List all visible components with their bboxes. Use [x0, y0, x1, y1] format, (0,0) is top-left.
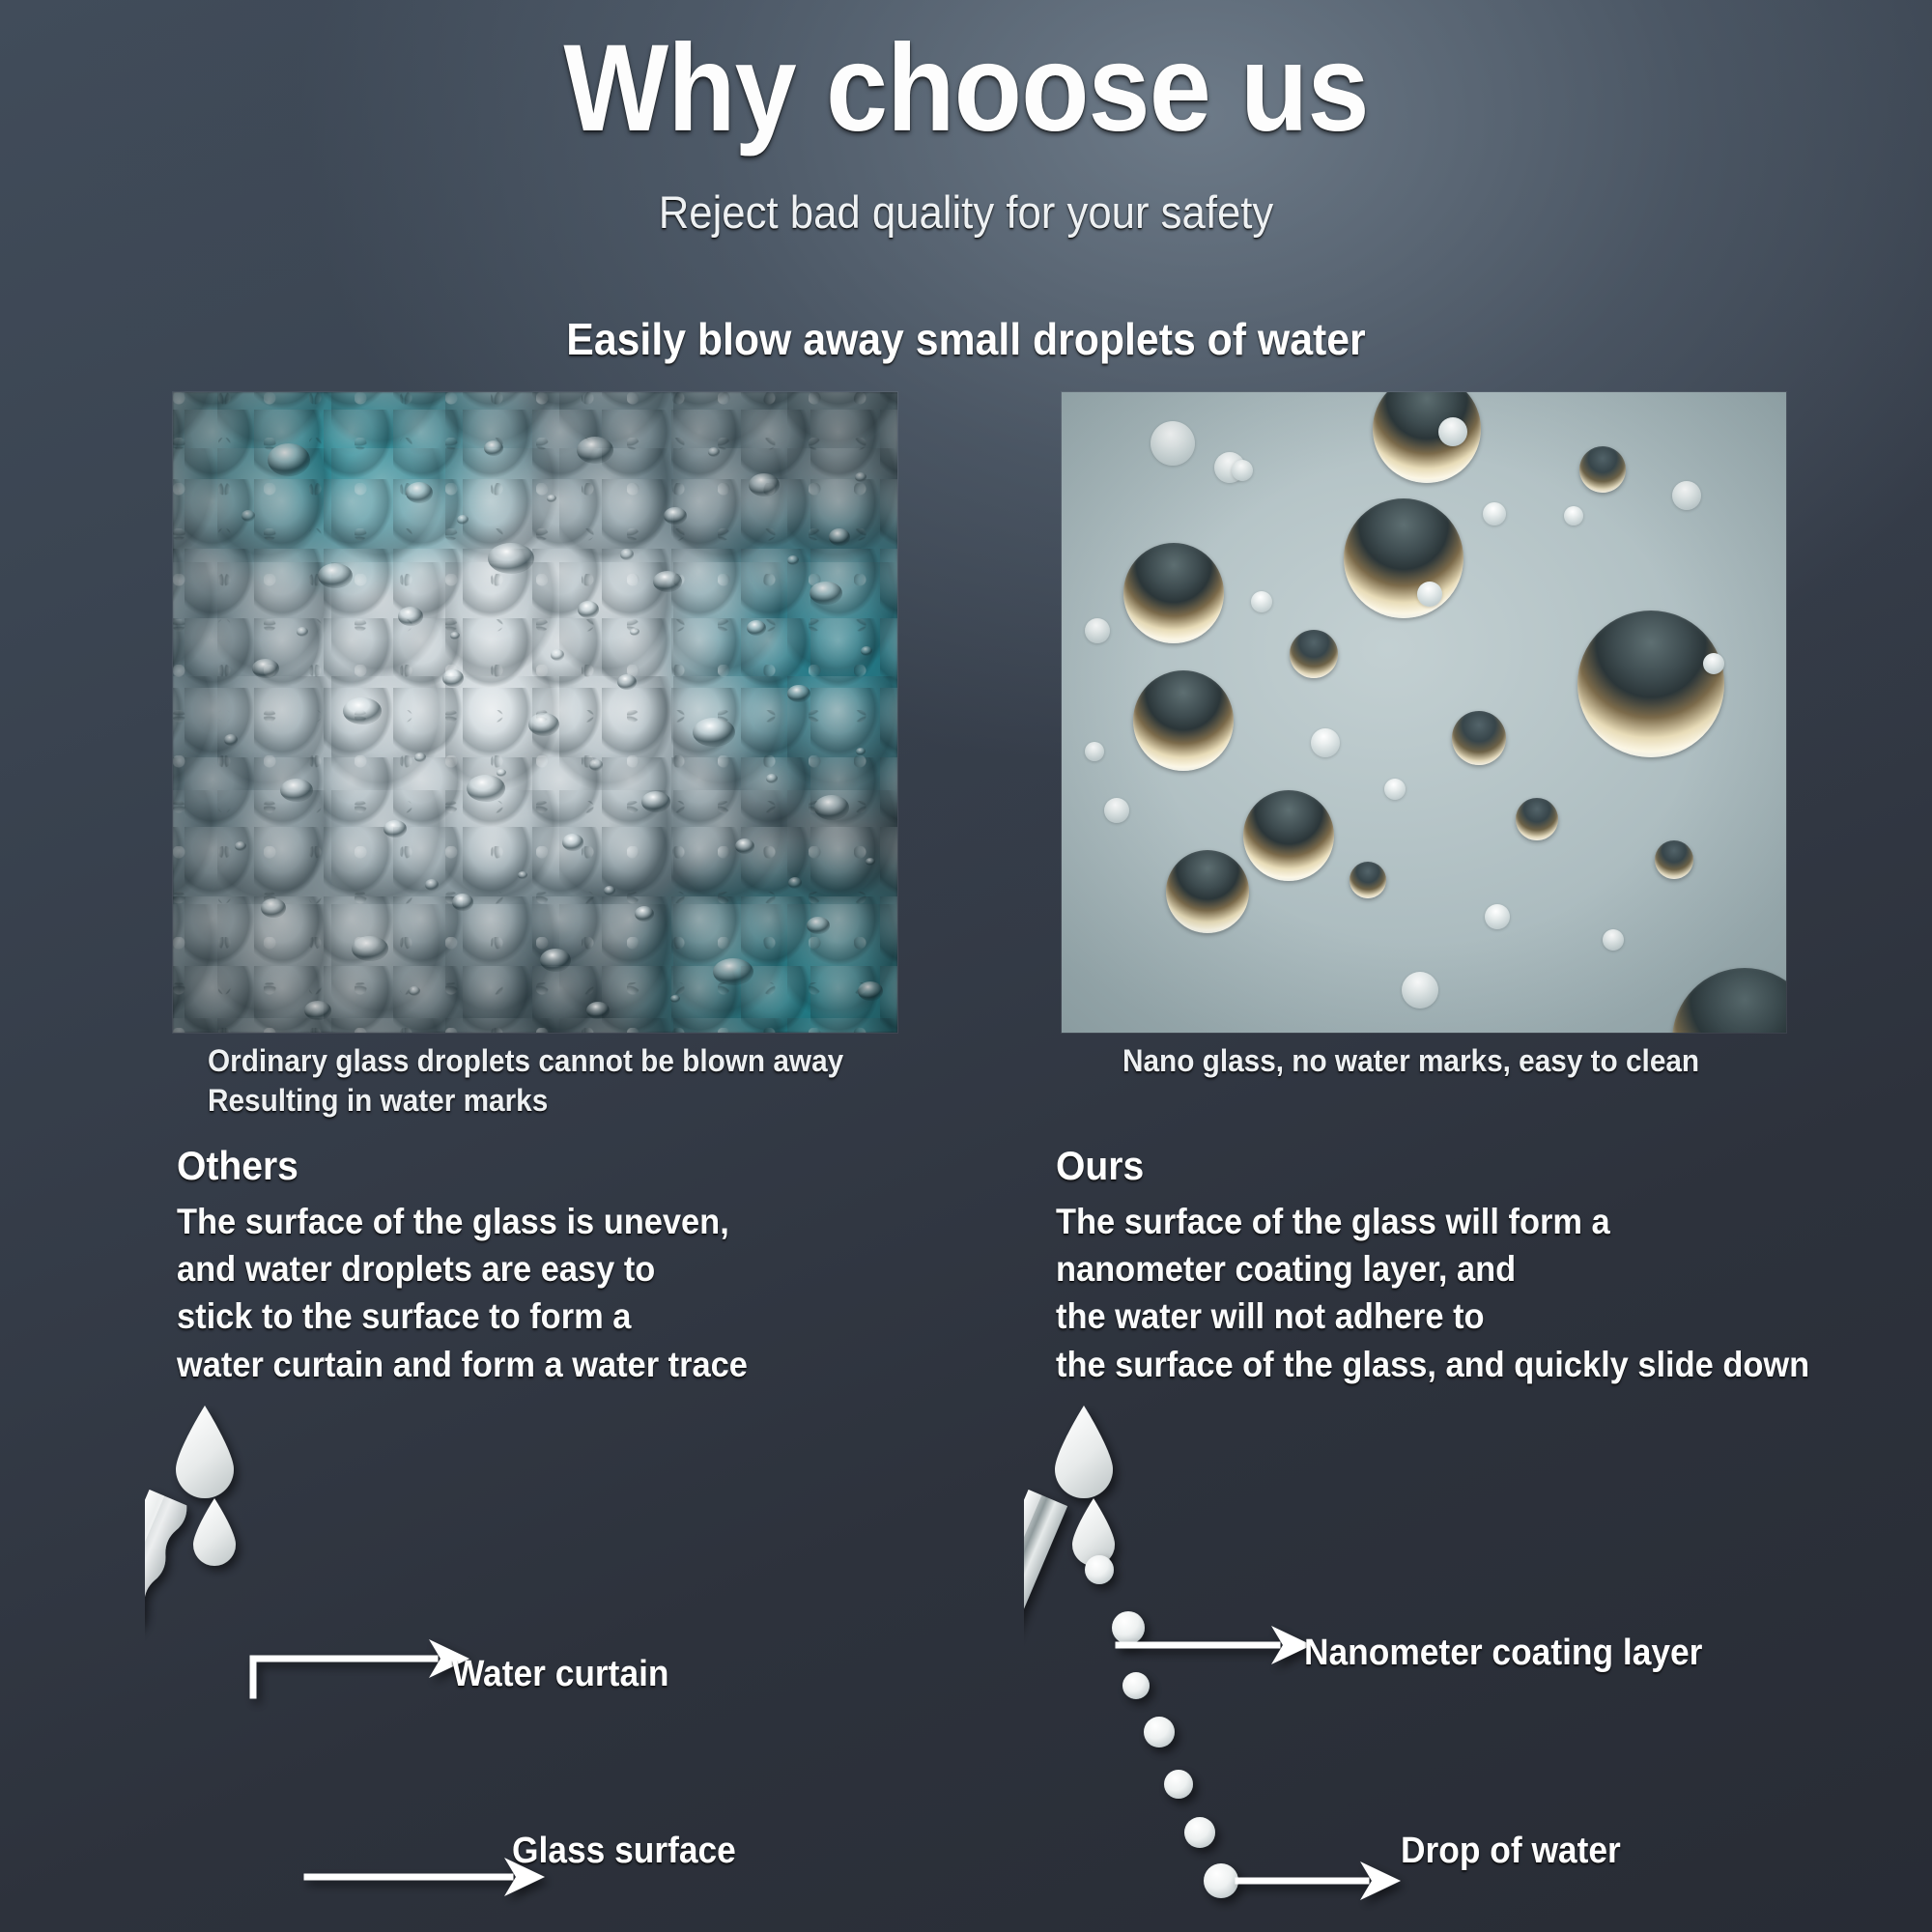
arrow-right-icon — [1119, 1626, 1312, 1664]
nano-glass-photo — [1061, 391, 1787, 1034]
water-bead-icon — [1085, 1555, 1238, 1898]
column-heading-ours: Ours — [1056, 1143, 1144, 1189]
annotation-nanometer-coating-layer: Nanometer coating layer — [1304, 1633, 1702, 1674]
caption-ordinary-glass: Ordinary glass droplets cannot be blown … — [208, 1041, 891, 1121]
arrow-right-icon — [1238, 1861, 1401, 1900]
photo-vignette — [1062, 392, 1786, 1033]
column-body-others: The surface of the glass is uneven, and … — [177, 1198, 985, 1388]
arrow-right-icon — [307, 1858, 545, 1896]
annotation-glass-surface: Glass surface — [512, 1831, 736, 1872]
annotation-water-curtain: Water curtain — [452, 1654, 669, 1695]
water-drop-icon — [176, 1406, 234, 1498]
page-title: Why choose us — [97, 23, 1835, 155]
column-body-ours: The surface of the glass will form a nan… — [1056, 1198, 1910, 1388]
annotation-drop-of-water: Drop of water — [1401, 1831, 1621, 1872]
column-heading-others: Others — [177, 1143, 298, 1189]
water-drop-icon — [1055, 1406, 1113, 1498]
ordinary-glass-photo — [172, 391, 898, 1034]
glass-bar-wavy-icon — [145, 1490, 189, 1882]
water-drop-small-icon — [1072, 1498, 1115, 1566]
photo-vignette — [173, 392, 897, 1033]
water-drop-small-icon — [193, 1498, 236, 1566]
page-subtitle: Reject bad quality for your safety — [68, 185, 1864, 239]
poster-root: Why choose us Reject bad quality for you… — [0, 0, 1932, 1932]
glass-bar-smooth-icon — [1024, 1490, 1067, 1882]
arrow-right-icon — [253, 1639, 469, 1695]
section-heading: Easily blow away small droplets of water — [68, 313, 1864, 365]
caption-nano-glass: Nano glass, no water marks, easy to clea… — [1122, 1041, 1751, 1081]
